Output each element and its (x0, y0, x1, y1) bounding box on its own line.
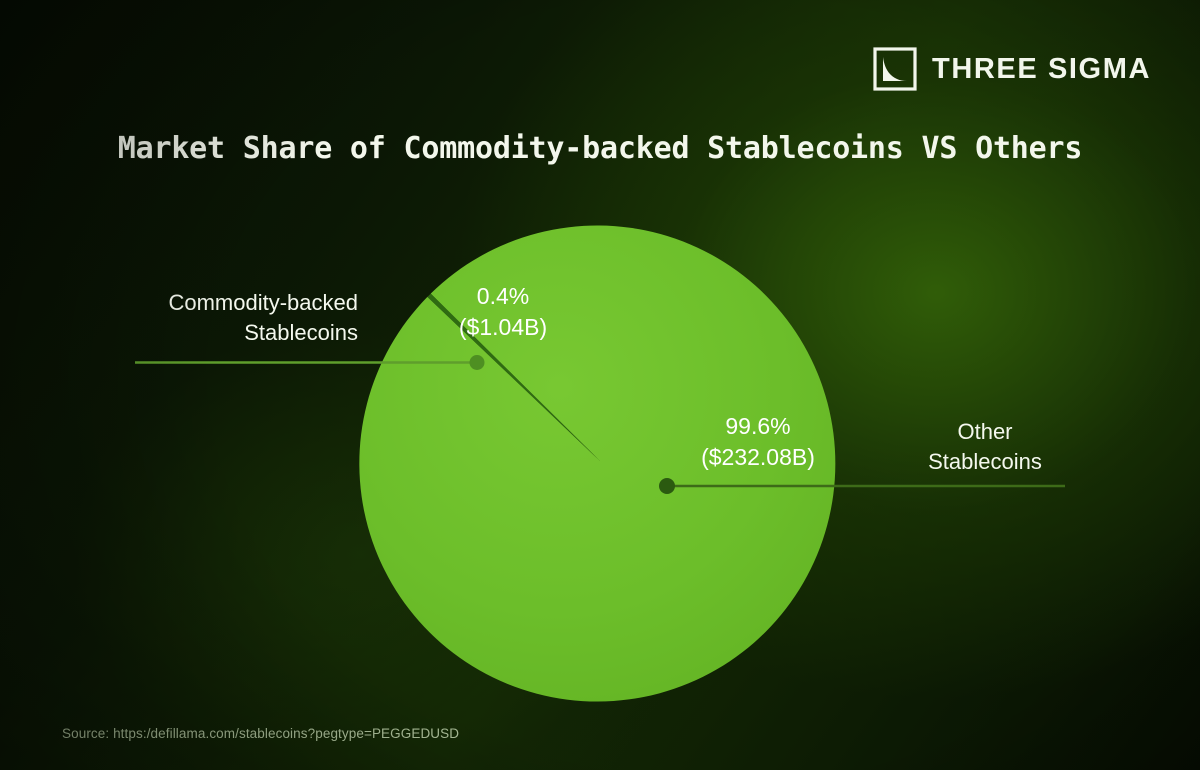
leader-dot-other-stablecoins (659, 478, 675, 494)
three-sigma-square-curve-icon (872, 46, 918, 92)
callout-label-other-stablecoins: Other Stablecoins (900, 417, 1070, 476)
pie-chart (0, 0, 1200, 770)
value-commodity-backed-amount: ($1.04B) (403, 312, 603, 343)
chart-canvas: THREE SIGMA Market Share of Commodity-ba… (0, 0, 1200, 770)
callout-label-commodity-backed-line2: Stablecoins (0, 318, 358, 348)
brand-logo: THREE SIGMA (872, 46, 1151, 92)
callout-label-other-stablecoins-line2: Stablecoins (900, 447, 1070, 477)
source-caption: Source: https:/defillama.com/stablecoins… (62, 726, 459, 741)
callout-label-other-stablecoins-line1: Other (900, 417, 1070, 447)
value-commodity-backed-percent: 0.4% (403, 281, 603, 312)
brand-name: THREE SIGMA (932, 55, 1151, 84)
value-other-stablecoins-percent: 99.6% (648, 411, 868, 442)
leader-dot-commodity-backed (470, 355, 485, 370)
value-other-stablecoins-amount: ($232.08B) (648, 442, 868, 473)
brand-name-text: THREE SIGMA (932, 55, 1151, 84)
value-commodity-backed: 0.4% ($1.04B) (403, 281, 603, 343)
callout-label-commodity-backed: Commodity-backed Stablecoins (0, 288, 358, 347)
value-other-stablecoins: 99.6% ($232.08B) (648, 411, 868, 473)
callout-label-commodity-backed-line1: Commodity-backed (0, 288, 358, 318)
